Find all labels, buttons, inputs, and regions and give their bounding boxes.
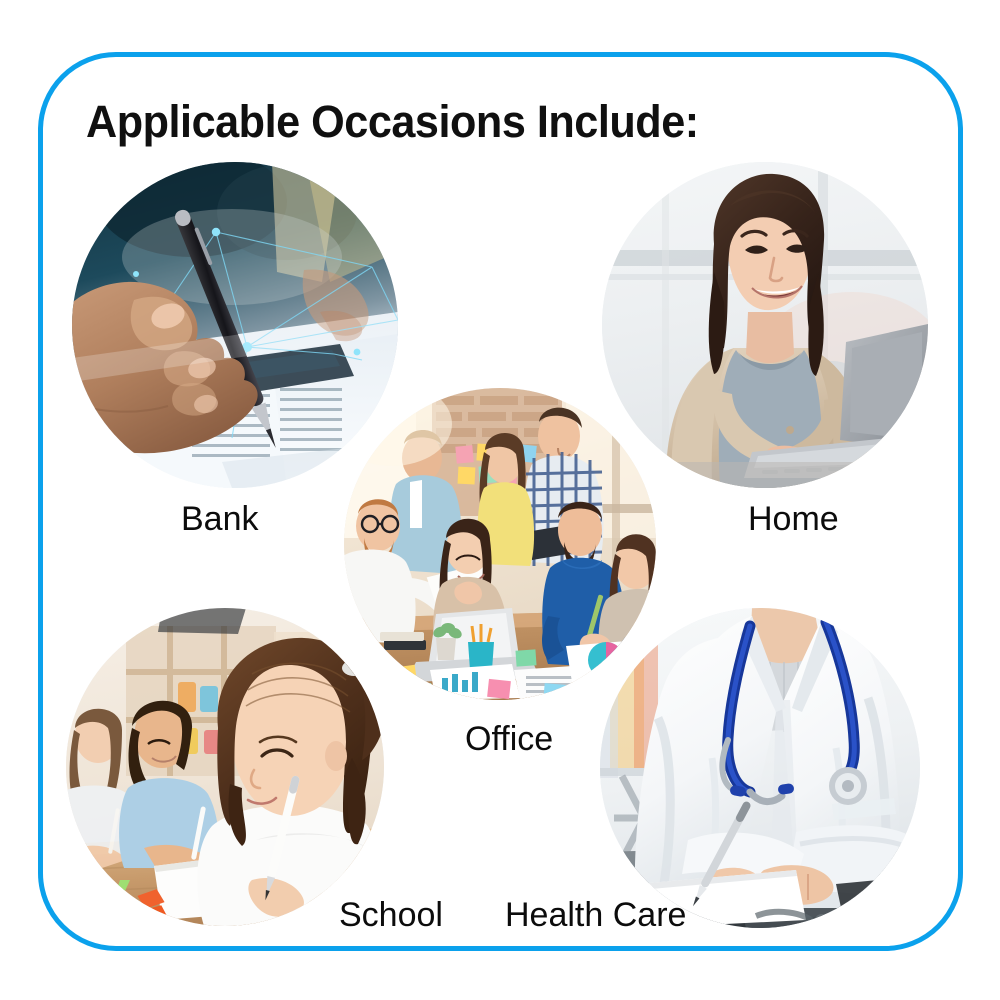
infographic-canvas: Applicable Occasions Include: [0,0,1000,1000]
page-title: Applicable Occasions Include: [86,96,699,148]
home-photo-illustration [602,162,928,488]
health-care-photo-illustration [600,608,920,928]
school-photo-illustration [66,608,384,926]
occasion-image-health-care [600,608,920,928]
occasion-label-bank: Bank [181,500,259,539]
occasion-label-office: Office [465,720,553,759]
occasion-label-home: Home [748,500,839,539]
office-photo-illustration [344,388,656,700]
occasion-image-office [344,388,656,700]
occasion-image-home [602,162,928,488]
occasion-image-school [66,608,384,926]
occasion-label-school: School [339,896,443,935]
occasion-label-health-care: Health Care [505,896,686,935]
bank-photo-illustration [72,162,398,488]
occasion-image-bank [72,162,398,488]
